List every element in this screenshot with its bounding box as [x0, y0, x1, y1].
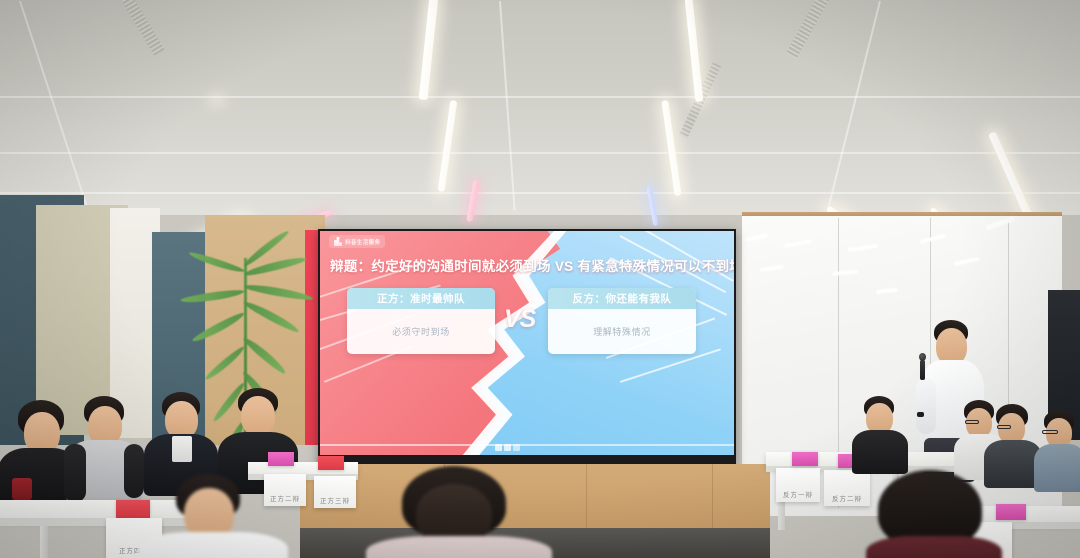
- person-foreground-center: [382, 466, 532, 558]
- person-foreground-left: [146, 474, 276, 558]
- plant-frond: [243, 282, 313, 302]
- table-leg: [40, 526, 48, 558]
- speaker-arm: [916, 378, 936, 434]
- tent-card-red: [116, 500, 150, 518]
- name-card-label: 正方三辩: [320, 495, 350, 505]
- slide-card-pro-header: 正方：准时最帅队: [347, 288, 495, 309]
- microphone-handle[interactable]: [920, 360, 925, 380]
- person-torso: [366, 536, 552, 558]
- name-card-label: 反方一辩: [783, 489, 813, 499]
- name-card-right-back: 反方一辩: [776, 468, 820, 502]
- tent-card-pink: [268, 452, 294, 466]
- person-right-4: [1038, 410, 1080, 482]
- wood-wall-seam: [712, 464, 713, 534]
- plant-frond: [241, 335, 288, 376]
- name-card-left-mid: 正方三辩: [314, 476, 356, 508]
- plant-frond: [191, 310, 246, 344]
- person-torso: [852, 430, 908, 474]
- name-card-label: 反方二辩: [832, 493, 862, 503]
- plant-frond: [242, 298, 300, 334]
- slide-bottom-glow: [320, 444, 734, 446]
- tent-card-red: [318, 456, 344, 470]
- eyeglasses: [965, 420, 979, 424]
- slide-logo: 抖音生活服务: [329, 235, 385, 248]
- tent-card-pink: [792, 452, 818, 466]
- slide-logo-text: 抖音生活服务: [345, 238, 380, 246]
- slide-card-pro: 正方：准时最帅队 必须守时到场: [347, 288, 495, 354]
- watermark-block: [513, 444, 520, 451]
- person-torso: [138, 532, 288, 558]
- person-sleeve: [64, 444, 86, 502]
- projection-screen[interactable]: 抖音生活服务 辩题：约定好的沟通时间就必须到场 VS 有紧急特殊情况可以不到场 …: [320, 231, 734, 455]
- ceiling-seam: [0, 152, 1080, 154]
- plant-frond: [203, 345, 246, 383]
- person-collar: [172, 436, 192, 462]
- plant-frond: [180, 288, 244, 305]
- slide-card-pro-body: 必须守时到场: [347, 309, 495, 354]
- wood-wall-panel: [300, 464, 770, 534]
- eyeglasses: [1042, 430, 1058, 434]
- plant-frond: [188, 250, 245, 275]
- person-sleeve: [124, 444, 144, 498]
- person-torso: [866, 536, 1002, 558]
- person-left-2: [68, 396, 140, 500]
- slide-vs-label: VS: [504, 305, 535, 334]
- slide-card-con-body: 理解特殊情况: [548, 309, 696, 354]
- person-logo-patch: [12, 478, 32, 500]
- brand-mark-icon: [334, 237, 342, 246]
- ceiling: [0, 0, 1080, 215]
- ceiling-seam: [0, 192, 1080, 194]
- microphone-head-icon: [919, 353, 926, 361]
- slide-title: 辩题：约定好的沟通时间就必须到场 VS 有紧急特殊情况可以不到场: [330, 255, 724, 275]
- slide-card-con-header: 反方：你还能有我队: [548, 288, 696, 309]
- wristwatch: [917, 412, 924, 417]
- eyeglasses: [997, 425, 1011, 429]
- slide-watermark: [495, 444, 520, 451]
- room-photo: 抖音生活服务 辩题：约定好的沟通时间就必须到场 VS 有紧急特殊情况可以不到场 …: [0, 0, 1080, 558]
- wood-wall-seam: [586, 464, 587, 534]
- person-head: [241, 396, 275, 436]
- watermark-block: [495, 444, 502, 451]
- person-torso: [1034, 444, 1080, 492]
- person-right-1: [852, 396, 908, 466]
- ceiling-seam: [0, 96, 1080, 98]
- watermark-block: [504, 444, 511, 451]
- slide-card-con: 反方：你还能有我队 理解特殊情况: [548, 288, 696, 354]
- person-foreground-right: [862, 470, 1012, 558]
